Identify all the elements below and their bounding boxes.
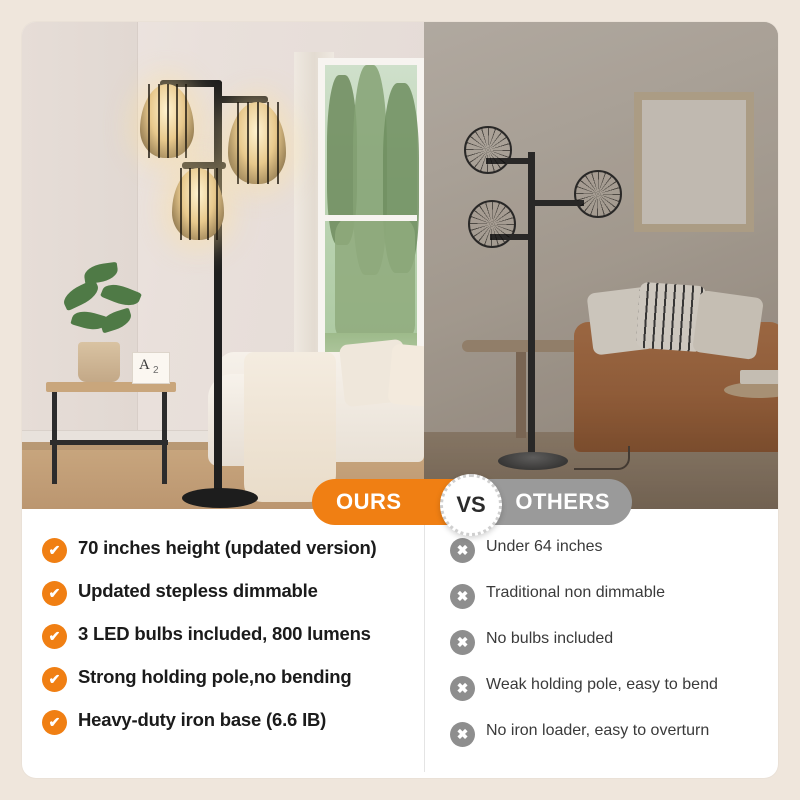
book-letter: A [139, 357, 150, 374]
others-product-photo [424, 22, 778, 509]
check-icon: ✔ [42, 667, 67, 692]
ours-lamp-pole [214, 82, 222, 492]
list-item: ✖ No iron loader, easy to overturn [450, 721, 768, 747]
left-plant [58, 260, 144, 346]
list-item: ✖ No bulbs included [450, 629, 768, 655]
ours-feature-column: ✔ 70 inches height (updated version) ✔ U… [22, 509, 424, 778]
others-feature-text: Weak holding pole, easy to bend [486, 675, 718, 694]
ours-feature-text: 3 LED bulbs included, 800 lumens [78, 623, 371, 645]
vs-banner: OURS OTHERS VS [312, 479, 632, 525]
list-item: ✔ Heavy-duty iron base (6.6 IB) [42, 709, 414, 735]
list-item: ✔ 70 inches height (updated version) [42, 537, 414, 563]
cross-icon: ✖ [450, 630, 475, 655]
ours-lamp-shade-3 [172, 168, 224, 240]
others-feature-text: No bulbs included [486, 629, 613, 648]
comparison-card: A 2 [22, 22, 778, 778]
cross-icon: ✖ [450, 722, 475, 747]
ours-feature-text: Updated stepless dimmable [78, 580, 318, 602]
others-feature-text: Traditional non dimmable [486, 583, 665, 602]
others-feature-text: No iron loader, easy to overturn [486, 721, 709, 740]
list-item: ✖ Weak holding pole, easy to bend [450, 675, 768, 701]
cross-icon: ✖ [450, 676, 475, 701]
list-item: ✔ Strong holding pole,no bending [42, 666, 414, 692]
ours-feature-text: Strong holding pole,no bending [78, 666, 352, 688]
left-plant-pot [78, 342, 120, 382]
vs-badge-label: VS [456, 492, 485, 518]
left-cushion-2 [387, 343, 424, 408]
book-number: 2 [153, 365, 159, 376]
vs-badge: VS [440, 474, 502, 536]
list-item: ✖ Traditional non dimmable [450, 583, 768, 609]
check-icon: ✔ [42, 624, 67, 649]
others-feature-column: ✖ Under 64 inches ✖ Traditional non dimm… [424, 509, 778, 778]
ours-product-photo: A 2 [22, 22, 424, 509]
check-icon: ✔ [42, 581, 67, 606]
left-book-decor: A 2 [132, 352, 170, 384]
ours-lamp-shade-2 [228, 102, 286, 184]
ours-feature-text: 70 inches height (updated version) [78, 537, 377, 559]
ours-lamp-base [182, 488, 258, 508]
ours-feature-text: Heavy-duty iron base (6.6 IB) [78, 709, 326, 731]
list-item: ✔ Updated stepless dimmable [42, 580, 414, 606]
photo-strip: A 2 [22, 22, 778, 509]
cross-icon: ✖ [450, 584, 475, 609]
list-item: ✔ 3 LED bulbs included, 800 lumens [42, 623, 414, 649]
check-icon: ✔ [42, 538, 67, 563]
others-feature-text: Under 64 inches [486, 537, 603, 556]
right-photo-shadow-overlay [424, 22, 778, 509]
ours-lamp-shade-1 [140, 84, 194, 158]
list-item: ✖ Under 64 inches [450, 537, 768, 563]
check-icon: ✔ [42, 710, 67, 735]
feature-lists: ✔ 70 inches height (updated version) ✔ U… [22, 509, 778, 778]
cross-icon: ✖ [450, 538, 475, 563]
